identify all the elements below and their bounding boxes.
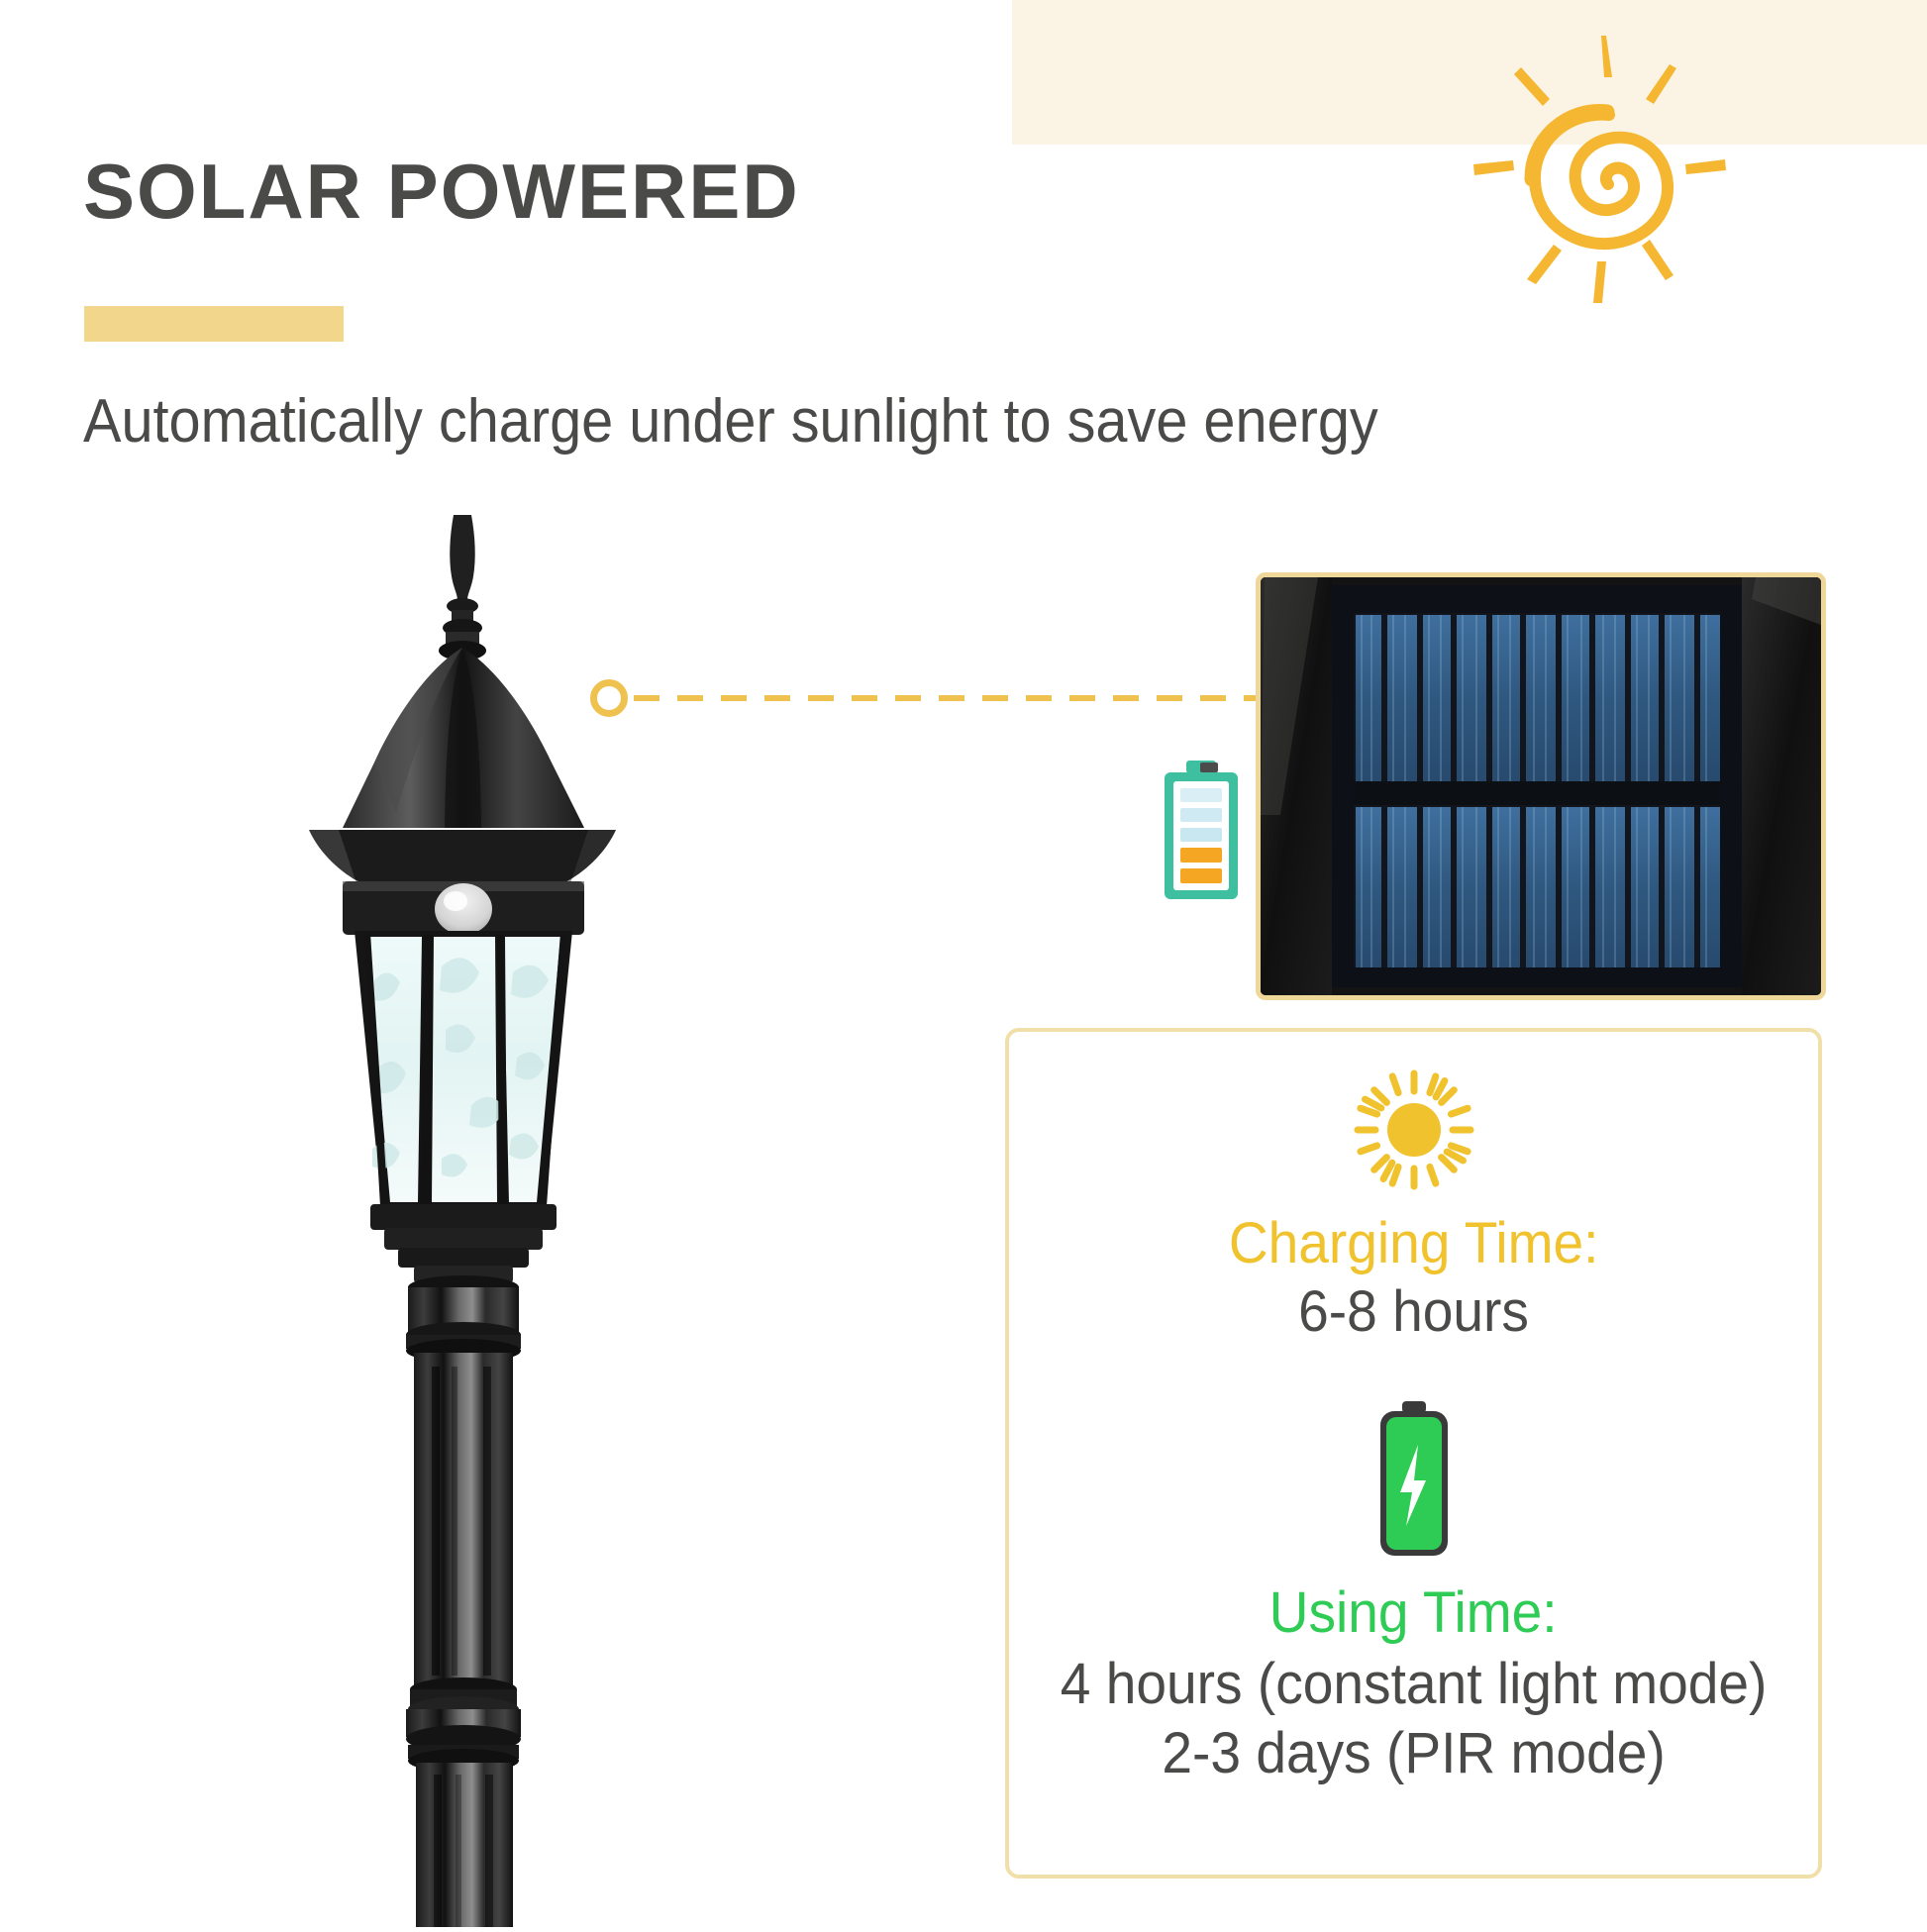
charging-time-label: Charging Time: xyxy=(1229,1214,1599,1274)
solar-panel-closeup-photo xyxy=(1256,572,1826,1000)
using-time-value-pir: 2-3 days (PIR mode) xyxy=(1162,1719,1665,1789)
solar-lamp-post-photo xyxy=(248,515,762,1927)
page-title: SOLAR POWERED xyxy=(83,147,800,237)
finial-top xyxy=(439,515,486,661)
battery-charging-level-icon xyxy=(1157,761,1246,909)
infographic-page: SOLAR POWERED Automatically charge under… xyxy=(0,0,1927,1927)
sun-icon xyxy=(1352,1068,1476,1192)
hexagonal-dome-roof xyxy=(309,648,616,889)
title-underline-rule xyxy=(84,306,344,342)
using-time-value-constant: 4 hours (constant light mode) xyxy=(1061,1650,1768,1720)
using-time-label: Using Time: xyxy=(1269,1583,1558,1644)
callout-leader-line xyxy=(634,695,1260,701)
callout-marker-dot xyxy=(590,679,628,717)
battery-full-charging-icon xyxy=(1374,1401,1454,1560)
glass-lantern-panels xyxy=(355,931,572,1283)
specs-card: Charging Time: 6-8 hours Using Time: 4 h… xyxy=(1005,1028,1822,1879)
charging-time-value: 6-8 hours xyxy=(1298,1280,1529,1344)
fluted-black-pole xyxy=(406,1353,521,1927)
pir-motion-sensor-dome xyxy=(435,883,492,935)
hand-drawn-sun-doodle-icon xyxy=(1456,20,1743,307)
page-subtitle: Automatically charge under sunlight to s… xyxy=(83,386,1378,457)
lantern-top-collar xyxy=(343,881,584,935)
pole-top-collar xyxy=(406,1275,521,1363)
